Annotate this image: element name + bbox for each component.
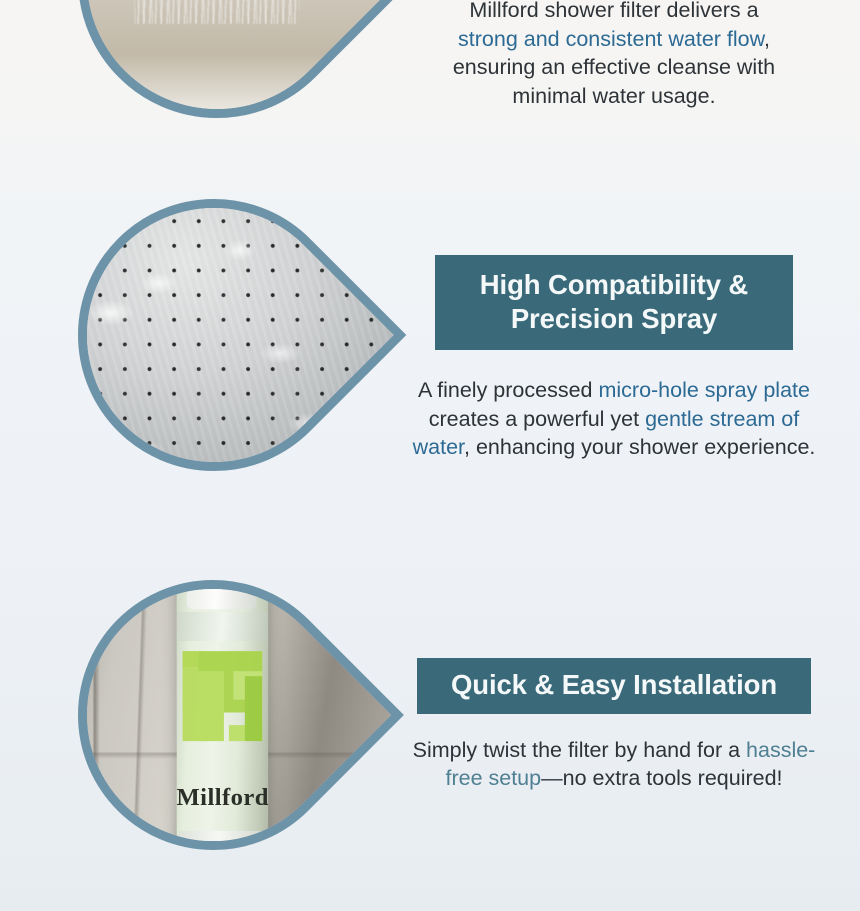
teardrop-image-frame-filter: Millford <box>22 524 404 906</box>
text-column-water-flow: Millford shower filter delivers a strong… <box>408 0 820 110</box>
copy-seg-3: creates a powerful yet <box>429 407 645 431</box>
copy-seg-1: A finely processed <box>418 378 598 402</box>
copy-seg-1: Simply twist the filter by hand for a <box>413 738 746 762</box>
photo-shower-spray <box>28 0 405 168</box>
body-copy-installation: Simply twist the filter by hand for a ha… <box>404 736 824 793</box>
photo-filter-cartridge: Millford <box>30 532 395 897</box>
copy-seg-5: , enhancing your shower experience. <box>464 435 815 459</box>
copy-accent-micro-hole-plate: micro-hole spray plate <box>598 378 810 402</box>
copy-line-1: Millford shower filter delivers a <box>469 0 758 22</box>
body-copy-precision-spray: A finely processed micro-hole spray plat… <box>404 376 824 462</box>
cartridge-cap-bottom <box>178 831 266 876</box>
copy-accent-water-flow: strong and consistent water flow <box>458 27 764 51</box>
cartridge-triangle-pattern <box>182 651 262 741</box>
infographic-page: Millford shower filter delivers a strong… <box>0 0 860 911</box>
copy-seg-3: —no extra tools required! <box>541 766 782 790</box>
teardrop-image-frame-spray-plate <box>22 143 407 528</box>
copy-comma: , <box>764 27 770 51</box>
cartridge-collar <box>176 612 267 641</box>
cartridge-cap-top <box>187 554 256 609</box>
text-column-installation: Quick & Easy Installation Simply twist t… <box>404 658 824 793</box>
heading-banner-precision-spray: High Compatibility & Precision Spray <box>435 255 793 350</box>
copy-line-3: ensuring an effective cleanse with <box>453 55 775 79</box>
photo-spray-plate <box>30 151 398 519</box>
text-column-precision-spray: High Compatibility & Precision Spray A f… <box>404 255 824 462</box>
teardrop-image-frame-shower <box>20 0 413 176</box>
copy-line-4: minimal water usage. <box>512 84 715 108</box>
product-cartridge: Millford <box>176 554 267 876</box>
body-copy-water-flow: Millford shower filter delivers a strong… <box>408 0 820 110</box>
heading-banner-installation: Quick & Easy Installation <box>417 658 811 714</box>
product-brand-label: Millford <box>176 782 267 811</box>
